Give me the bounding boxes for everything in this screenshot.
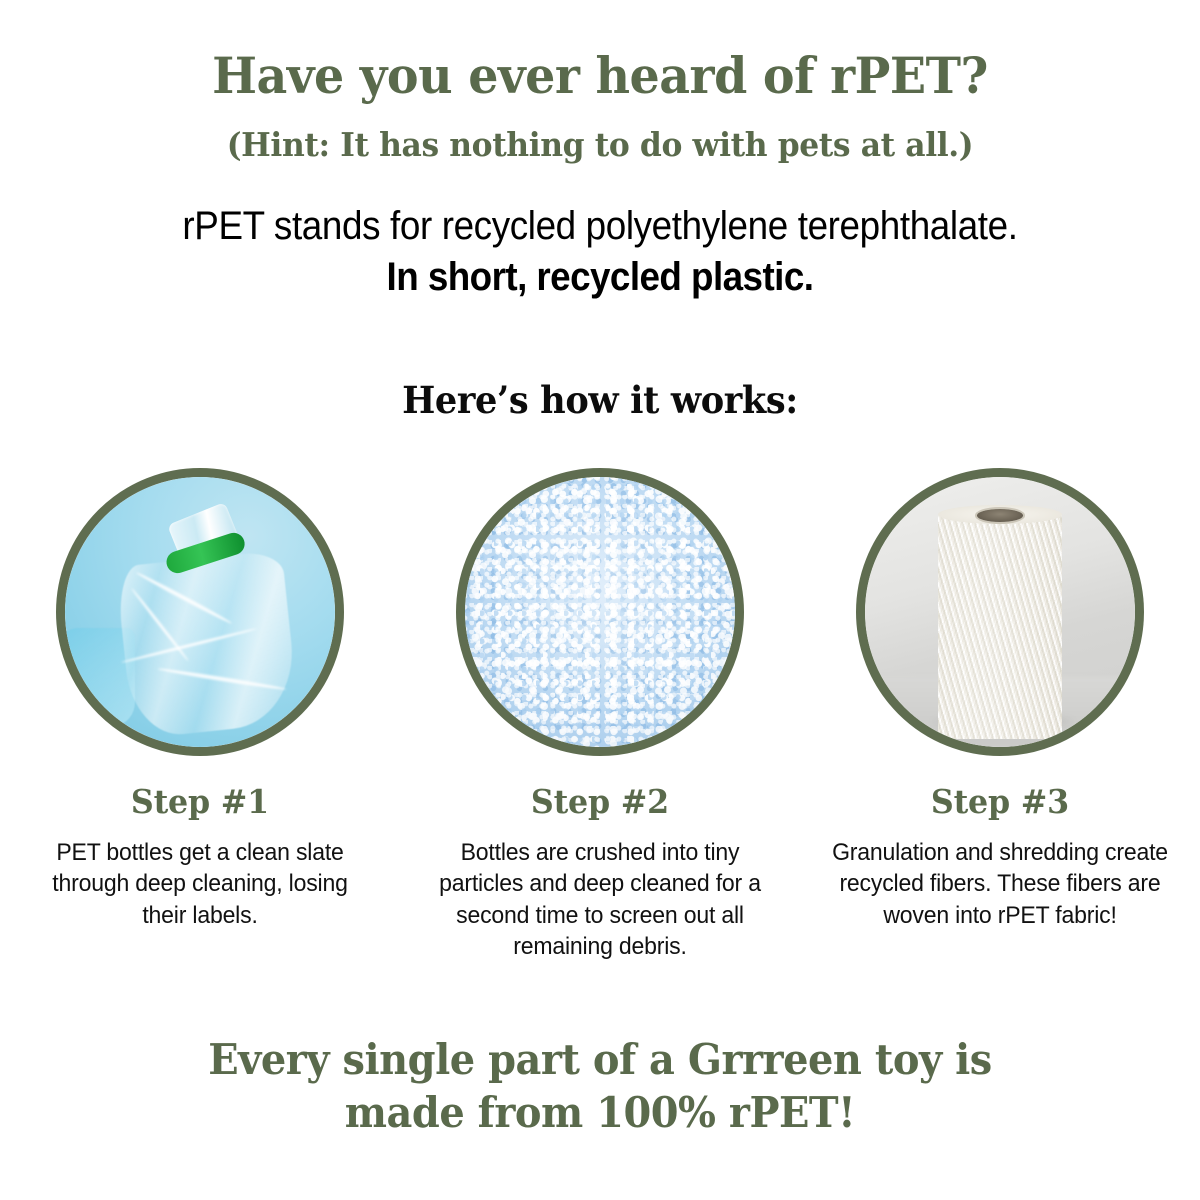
step-1-image-circle [56,468,344,756]
step-card-2: Step #2 Bottles are crushed into tiny pa… [400,468,800,963]
section-heading-how-it-works: Here’s how it works: [30,378,1170,422]
step-3-description: Granulation and shredding create recycle… [832,837,1168,931]
footer-statement: Every single part of a Grrreen toy is ma… [30,1034,1170,1139]
page-subtitle: (Hint: It has nothing to do with pets at… [30,125,1170,164]
footer-line-1: Every single part of a Grrreen toy is [30,1034,1170,1087]
blue-plastic-pellets-photo [465,477,735,747]
step-card-1: Step #1 PET bottles get a clean slate th… [0,468,400,931]
infographic-page: Have you ever heard of rPET? (Hint: It h… [0,0,1200,1200]
step-3-image-circle [856,468,1144,756]
step-3-label: Step #3 [931,782,1069,821]
step-1-description: PET bottles get a clean slate through de… [32,837,368,931]
definition-block: rPET stands for recycled polyethylene te… [0,203,1200,304]
step-1-label: Step #1 [131,782,269,821]
bottle-illustration [65,477,335,747]
pellets-illustration [465,477,735,747]
step-2-description: Bottles are crushed into tiny particles … [432,837,768,963]
steps-container: Step #1 PET bottles get a clean slate th… [0,468,1200,963]
spool-thread-crosswind [938,512,1062,739]
spool-core-hole [977,509,1023,521]
step-2-label: Step #2 [531,782,669,821]
pellet-vignette [465,477,735,747]
page-title: Have you ever heard of rPET? [30,50,1170,101]
step-2-image-circle [456,468,744,756]
white-thread-spool-photo [865,477,1135,747]
spool-illustration [865,477,1135,747]
definition-line-1: rPET stands for recycled polyethylene te… [48,203,1152,250]
footer-line-2: made from 100% rPET! [30,1087,1170,1140]
step-card-3: Step #3 Granulation and shredding create… [800,468,1200,931]
definition-line-2: In short, recycled plastic. [48,250,1152,304]
crushed-pet-bottle-photo [65,477,335,747]
